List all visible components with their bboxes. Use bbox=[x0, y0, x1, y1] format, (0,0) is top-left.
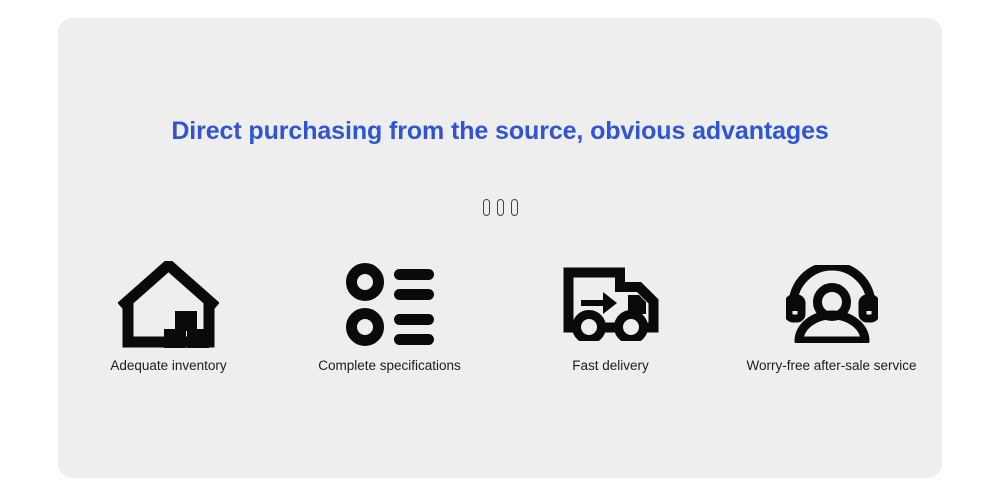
warehouse-house-icon bbox=[118, 252, 219, 356]
list-specifications-icon bbox=[346, 252, 434, 356]
separator-pill-1 bbox=[483, 199, 490, 216]
feature-item-inventory: Adequate inventory bbox=[58, 252, 279, 375]
feature-label-inventory: Adequate inventory bbox=[110, 357, 226, 375]
separator-pill-2 bbox=[497, 199, 504, 216]
feature-item-specifications: Complete specifications bbox=[279, 252, 500, 375]
feature-label-delivery: Fast delivery bbox=[572, 357, 649, 375]
feature-label-support: Worry-free after-sale service bbox=[746, 357, 916, 375]
feature-item-delivery: Fast delivery bbox=[500, 252, 721, 375]
feature-list: Adequate inventory Complete specificatio… bbox=[58, 252, 942, 375]
separator-pill-3 bbox=[511, 199, 518, 216]
three-pill-separator bbox=[58, 199, 942, 216]
feature-label-specifications: Complete specifications bbox=[318, 357, 461, 375]
page-title: Direct purchasing from the source, obvio… bbox=[58, 117, 942, 146]
delivery-truck-icon bbox=[563, 252, 659, 356]
promo-card: Direct purchasing from the source, obvio… bbox=[58, 18, 942, 478]
page-root: Direct purchasing from the source, obvio… bbox=[0, 0, 1000, 499]
headset-support-agent-icon bbox=[786, 252, 878, 356]
feature-item-support: Worry-free after-sale service bbox=[721, 252, 942, 375]
